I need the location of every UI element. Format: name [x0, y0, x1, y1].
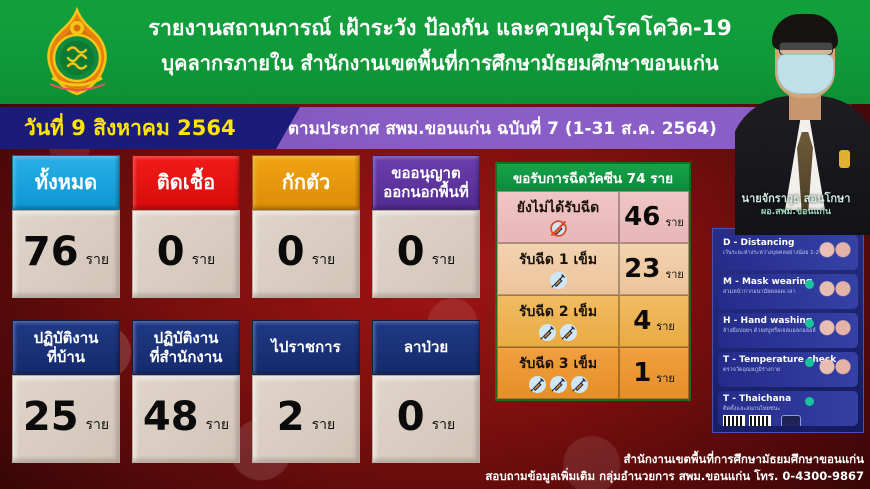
- syringe-icon: [529, 376, 546, 393]
- dmhtt-item: H - Hand washingล้างมือบ่อยๆ ด้วยสบู่หรื…: [718, 313, 858, 348]
- stat-card-unit: ราย: [206, 398, 230, 436]
- stat-card-header: ทั้งหมด: [12, 155, 120, 210]
- stat-card-value: 2: [277, 397, 305, 437]
- stat-card-header: ไปราชการ: [252, 320, 360, 375]
- vaccination-rows: ยังไม่ได้รับฉีด46รายรับฉีด 1 เข็ม23รายรั…: [497, 191, 689, 399]
- director-nameplate: นายจักราวุธ สอนโกษา ผอ.สพม.ขอนแก่น: [722, 192, 870, 219]
- syringe-icon: [571, 376, 588, 393]
- stat-card-header: ขออนุญาตออกนอกพื้นที่: [372, 155, 480, 210]
- stat-card-value: 0: [397, 232, 425, 272]
- check-icon: [805, 358, 814, 367]
- vaccination-row-label: รับฉีด 1 เข็ม: [519, 249, 597, 271]
- dmhtt-item: T - Thaichanaติดตั้งและสแกนไทยชนะ: [718, 391, 858, 426]
- vaccination-row-unit: ราย: [665, 203, 684, 231]
- stat-card-value: 76: [23, 232, 79, 272]
- vaccination-row-icons: [529, 376, 588, 393]
- vaccination-row-value: 1: [633, 360, 651, 386]
- face-mask-icon: [777, 54, 834, 94]
- vaccination-row-value: 23: [624, 256, 660, 282]
- stat-card-unit: ราย: [312, 398, 336, 436]
- syringe-icon: [550, 376, 567, 393]
- dmhtt-item: T - Temperature checkตรวจวัดอุณหภูมิร่าง…: [718, 352, 858, 387]
- stat-card-unit: ราย: [86, 398, 110, 436]
- footer-contact: สอบถามข้อมูลเพิ่มเติม กลุ่มอำนวยการ สพม.…: [485, 468, 864, 485]
- syringe-icon: [560, 324, 577, 341]
- stat-card-label: ติดเชื้อ: [157, 173, 215, 192]
- vaccination-row-label-cell: ยังไม่ได้รับฉีด: [497, 191, 619, 243]
- vaccination-row-label: รับฉีด 3 เข็ม: [519, 353, 597, 375]
- vaccination-row-icons: [550, 272, 567, 289]
- stat-card-label: ทั้งหมด: [35, 173, 97, 192]
- title-line-2: บุคลากรภายใน สำนักงานเขตพื้นที่การศึกษาม…: [120, 46, 760, 80]
- covid-report-poster: รายงานสถานการณ์ เฝ้าระวัง ป้องกัน และควบ…: [0, 0, 870, 489]
- stat-card-body: 25ราย: [12, 375, 120, 463]
- stat-card-unit: ราย: [432, 398, 456, 436]
- mask-icon: [815, 277, 855, 303]
- stat-card-header: ติดเชื้อ: [132, 155, 240, 210]
- stat-card: ติดเชื้อ0ราย: [132, 155, 240, 298]
- vaccination-row-icons: [550, 220, 567, 237]
- stat-card-body: 0ราย: [372, 375, 480, 463]
- stat-card-body: 76ราย: [12, 210, 120, 298]
- thaichana-qr-icon: [723, 415, 745, 426]
- dmhtt-item-title: T - Thaichana: [723, 394, 853, 405]
- vaccination-row-value: 4: [633, 308, 651, 334]
- vaccination-row-value-cell: 46ราย: [619, 191, 689, 243]
- announcement-label: ตามประกาศ สพม.ขอนแก่น ฉบับที่ 7 (1-31 ส.…: [288, 107, 717, 149]
- stat-card-label: ไปราชการ: [271, 338, 340, 357]
- stat-card-unit: ราย: [432, 233, 456, 271]
- vaccination-row-label-cell: รับฉีด 1 เข็ม: [497, 243, 619, 295]
- stat-card-label: ปฏิบัติงานที่สำนักงาน: [150, 329, 223, 367]
- stat-card-value: 25: [23, 397, 79, 437]
- ministry-of-education-emblem: [30, 6, 125, 101]
- vaccination-row-value-cell: 1ราย: [619, 347, 689, 399]
- vaccination-row-icons: [539, 324, 577, 341]
- syringe-icon: [550, 272, 567, 289]
- vaccination-row-value-cell: 23ราย: [619, 243, 689, 295]
- check-icon: [805, 280, 814, 289]
- vaccination-row-label-cell: รับฉีด 2 เข็ม: [497, 295, 619, 347]
- stat-card: ปฏิบัติงานที่บ้าน25ราย: [12, 320, 120, 463]
- stat-card-label: ปฏิบัติงานที่บ้าน: [34, 329, 99, 367]
- footer: สำนักงานเขตพื้นที่การศึกษามัธยมศึกษาขอนแ…: [485, 451, 864, 485]
- vaccination-row-unit: ราย: [656, 307, 675, 335]
- vaccination-row-value-cell: 4ราย: [619, 295, 689, 347]
- stat-card-label: ลาป่วย: [404, 338, 448, 357]
- stat-card-unit: ราย: [312, 233, 336, 271]
- stat-card-body: 48ราย: [132, 375, 240, 463]
- lapel-pin-icon: [839, 150, 850, 168]
- vaccination-panel: ขอรับการฉีดวัคซีน 74 ราย ยังไม่ได้รับฉีด…: [495, 162, 691, 401]
- director-name: นายจักราวุธ สอนโกษา: [722, 192, 870, 206]
- stat-card-value: 0: [277, 232, 305, 272]
- stat-card-body: 2ราย: [252, 375, 360, 463]
- director-position: ผอ.สพม.ขอนแก่น: [722, 206, 870, 219]
- stat-card-header: ปฏิบัติงานที่สำนักงาน: [132, 320, 240, 375]
- stat-card-header: ลาป่วย: [372, 320, 480, 375]
- vaccination-panel-title: ขอรับการฉีดวัคซีน 74 ราย: [497, 164, 689, 191]
- stat-card-unit: ราย: [86, 233, 110, 271]
- page-title: รายงานสถานการณ์ เฝ้าระวัง ป้องกัน และควบ…: [120, 12, 760, 80]
- vaccination-row: รับฉีด 2 เข็ม4ราย: [497, 295, 689, 347]
- no-syringe-icon: [550, 220, 567, 237]
- stat-card-value: 0: [157, 232, 185, 272]
- stat-card: ขออนุญาตออกนอกพื้นที่0ราย: [372, 155, 480, 298]
- vaccination-row-label: รับฉีด 2 เข็ม: [519, 301, 597, 323]
- date-label: วันที่ 9 สิงหาคม 2564: [0, 112, 236, 145]
- stat-card-header: ปฏิบัติงานที่บ้าน: [12, 320, 120, 375]
- dmhtt-prevention-poster: D - Distancingเว้นระยะห่างระหว่างบุคคลอย…: [712, 228, 864, 433]
- stat-card-value: 0: [397, 397, 425, 437]
- stat-card: ลาป่วย0ราย: [372, 320, 480, 463]
- stat-card-body: 0ราย: [252, 210, 360, 298]
- syringe-icon: [539, 324, 556, 341]
- thaichana-qr-icon: [749, 415, 771, 426]
- date-chip: วันที่ 9 สิงหาคม 2564: [0, 107, 300, 149]
- vaccination-row: รับฉีด 1 เข็ม23ราย: [497, 243, 689, 295]
- stat-card-label: ขออนุญาตออกนอกพื้นที่: [383, 164, 468, 202]
- stat-card: ทั้งหมด76ราย: [12, 155, 120, 298]
- thermometer-icon: [815, 355, 855, 381]
- stat-card-unit: ราย: [192, 233, 216, 271]
- footer-office-name: สำนักงานเขตพื้นที่การศึกษามัธยมศึกษาขอนแ…: [485, 451, 864, 468]
- dmhtt-item: D - Distancingเว้นระยะห่างระหว่างบุคคลอย…: [718, 235, 858, 270]
- stat-card: กักตัว0ราย: [252, 155, 360, 298]
- dmhtt-item-subtitle: ติดตั้งและสแกนไทยชนะ: [723, 405, 853, 413]
- stat-card-grid: ทั้งหมด76รายติดเชื้อ0รายกักตัว0รายขออนุญ…: [0, 155, 490, 489]
- stat-card: ไปราชการ2ราย: [252, 320, 360, 463]
- vaccination-row: ยังไม่ได้รับฉีด46ราย: [497, 191, 689, 243]
- handwash-icon: [815, 316, 855, 342]
- vaccination-row: รับฉีด 3 เข็ม1ราย: [497, 347, 689, 399]
- vaccination-row-label: ยังไม่ได้รับฉีด: [517, 197, 599, 219]
- stat-card-label: กักตัว: [282, 173, 330, 192]
- stat-card-header: กักตัว: [252, 155, 360, 210]
- check-icon: [805, 397, 814, 406]
- check-icon: [805, 319, 814, 328]
- vaccination-row-value: 46: [624, 204, 660, 230]
- vaccination-row-unit: ราย: [656, 359, 675, 387]
- vaccination-row-label-cell: รับฉีด 3 เข็ม: [497, 347, 619, 399]
- stat-card: ปฏิบัติงานที่สำนักงาน48ราย: [132, 320, 240, 463]
- stat-card-body: 0ราย: [132, 210, 240, 298]
- title-line-1: รายงานสถานการณ์ เฝ้าระวัง ป้องกัน และควบ…: [120, 12, 760, 46]
- vaccination-row-unit: ราย: [665, 255, 684, 283]
- distancing-icon: [815, 238, 855, 264]
- phone-icon: [781, 415, 801, 426]
- stat-card-value: 48: [143, 397, 199, 437]
- dmhtt-item: M - Mask wearingสวมหน้ากากอนามัยตลอดเวลา: [718, 274, 858, 309]
- stat-card-body: 0ราย: [372, 210, 480, 298]
